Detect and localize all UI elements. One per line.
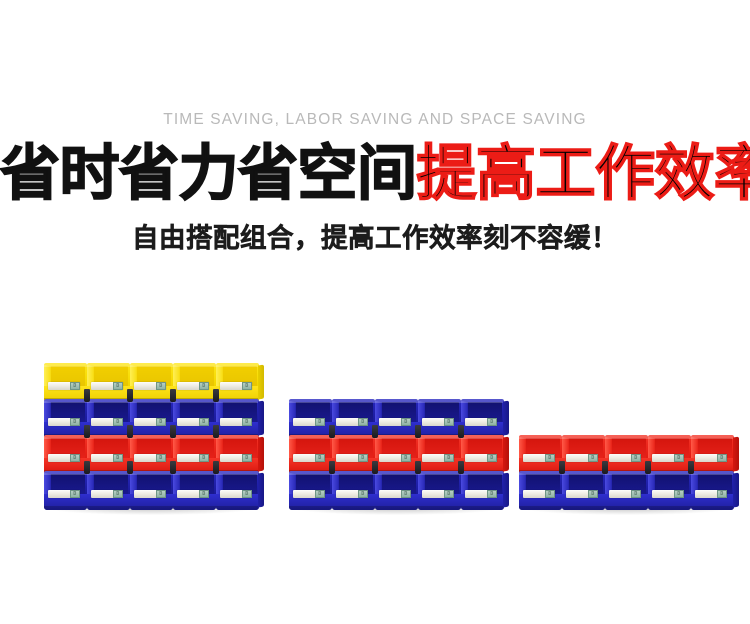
bin-label-strip: D [293, 454, 325, 462]
bin-label-strip: D [91, 382, 123, 390]
hero-subline-text: 自由搭配组合，提高工作效率刻不容缓！ [0, 226, 750, 253]
bin-body: D [648, 471, 691, 510]
bin-label-tag: D [631, 454, 641, 462]
bin-label-strip: D [336, 454, 368, 462]
bin-body: D [44, 399, 87, 438]
bin-label-tag: D [487, 490, 497, 498]
stack-connector-peg [329, 461, 335, 474]
bin-label-tag: D [315, 454, 325, 462]
storage-bin: D [44, 435, 87, 474]
storage-bin: D [375, 471, 418, 510]
bin-label-strip: D [609, 490, 641, 498]
bin-body: D [289, 399, 332, 438]
storage-bin: D [87, 471, 130, 510]
bin-body: D [375, 399, 418, 438]
bin-body: D [130, 363, 173, 402]
bin-rim [173, 471, 216, 475]
bin-label-strip: D [293, 418, 325, 426]
bin-body: D [691, 471, 734, 510]
bin-row: DDDDD [44, 435, 259, 474]
bin-row: DDDDD [289, 471, 504, 510]
bin-label-strip: D [91, 490, 123, 498]
bin-label-strip: D [134, 418, 166, 426]
bin-rim [691, 471, 734, 475]
bin-label-tag: D [487, 418, 497, 426]
bin-label-tag: D [113, 418, 123, 426]
bin-label-tag: D [70, 418, 80, 426]
hero-header: TIME SAVING, LABOR SAVING AND SPACE SAVI… [0, 0, 750, 252]
storage-bin: D [375, 435, 418, 474]
bin-label-strip: D [134, 454, 166, 462]
bin-rim [87, 435, 130, 439]
stack-connector-peg [415, 461, 421, 474]
bin-rim [216, 399, 259, 403]
bin-rim [87, 471, 130, 475]
bin-rim [173, 399, 216, 403]
bin-rim [375, 435, 418, 439]
bin-rim [44, 435, 87, 439]
bin-row: DDDDD [44, 471, 259, 510]
bin-rim [44, 399, 87, 403]
storage-bin: D [216, 363, 259, 402]
hero-headline: 省时省力省空间提高工作效率! [0, 144, 750, 204]
bin-label-strip: D [523, 454, 555, 462]
storage-bin: D [216, 471, 259, 510]
bin-label-strip: D [48, 418, 80, 426]
storage-bin: D [691, 435, 734, 474]
bin-rim [519, 435, 562, 439]
bin-row: DDDDD [289, 399, 504, 438]
storage-bin: D [87, 435, 130, 474]
storage-bin: D [332, 399, 375, 438]
bin-label-tag: D [401, 418, 411, 426]
storage-bin: D [562, 471, 605, 510]
bin-label-tag: D [113, 454, 123, 462]
bin-body: D [562, 471, 605, 510]
bin-rim [87, 363, 130, 367]
bin-label-tag: D [717, 490, 727, 498]
bin-label-strip: D [422, 418, 454, 426]
bin-label-tag: D [199, 454, 209, 462]
bin-label-tag: D [199, 418, 209, 426]
storage-bin: D [332, 435, 375, 474]
storage-bin: D [173, 471, 216, 510]
bin-body: D [87, 363, 130, 402]
bin-body: D [562, 435, 605, 474]
headline-primary-text: 省时省力省空间 [0, 139, 417, 209]
bin-stack: DDDDDDDDDD [519, 435, 734, 510]
bin-label-tag: D [242, 382, 252, 390]
storage-bin: D [130, 399, 173, 438]
bin-label-strip: D [609, 454, 641, 462]
bin-label-tag: D [199, 382, 209, 390]
bin-side-wall [258, 365, 264, 400]
bin-label-tag: D [70, 382, 80, 390]
stack-connector-peg [415, 425, 421, 438]
bin-stack: DDDDDDDDDDDDDDD [289, 399, 504, 510]
bin-rim [375, 471, 418, 475]
storage-bin: D [648, 471, 691, 510]
bin-label-tag: D [631, 490, 641, 498]
bin-body: D [173, 471, 216, 510]
bin-label-tag: D [545, 454, 555, 462]
bin-rim [289, 471, 332, 475]
stack-connector-peg [372, 425, 378, 438]
bin-body: D [87, 471, 130, 510]
stack-connector-peg [84, 461, 90, 474]
bin-body: D [375, 471, 418, 510]
bin-rim [44, 471, 87, 475]
storage-bin: D [87, 363, 130, 402]
bin-rim [173, 435, 216, 439]
stack-connector-peg [458, 425, 464, 438]
bin-body: D [332, 471, 375, 510]
bin-body: D [216, 435, 259, 474]
product-stack-two-layer: DDDDDDDDDD 二层 [519, 435, 734, 510]
bin-rim [605, 435, 648, 439]
bin-body: D [216, 399, 259, 438]
storage-bin: D [173, 363, 216, 402]
bin-label-tag: D [156, 382, 166, 390]
bin-label-strip: D [652, 454, 684, 462]
bin-label-tag: D [70, 490, 80, 498]
storage-bin: D [418, 399, 461, 438]
bin-label-tag: D [315, 418, 325, 426]
bin-label-tag: D [588, 454, 598, 462]
bin-label-strip: D [422, 490, 454, 498]
storage-bin: D [289, 399, 332, 438]
bin-body: D [461, 435, 504, 474]
stack-connector-peg [170, 389, 176, 402]
bin-label-strip: D [91, 418, 123, 426]
bin-side-wall [258, 473, 264, 508]
bin-side-wall [503, 437, 509, 472]
bin-label-strip: D [465, 490, 497, 498]
bin-label-tag: D [401, 454, 411, 462]
bin-rim [461, 399, 504, 403]
storage-bin: D [289, 471, 332, 510]
storage-bin: D [605, 471, 648, 510]
bin-label-tag: D [70, 454, 80, 462]
bin-body: D [289, 471, 332, 510]
bin-label-strip: D [134, 490, 166, 498]
bin-row: DDDDD [289, 435, 504, 474]
bin-side-wall [733, 473, 739, 508]
stack-connector-peg [127, 425, 133, 438]
bin-body: D [461, 399, 504, 438]
bin-label-tag: D [588, 490, 598, 498]
bin-body: D [418, 435, 461, 474]
bin-body: D [216, 363, 259, 402]
bin-label-strip: D [523, 490, 555, 498]
stack-connector-peg [213, 425, 219, 438]
stack-connector-peg [170, 461, 176, 474]
bin-label-strip: D [48, 382, 80, 390]
bin-rim [44, 363, 87, 367]
headline-accent-text: 提高工作效率! [417, 139, 750, 209]
bin-label-strip: D [220, 490, 252, 498]
bin-label-strip: D [91, 454, 123, 462]
bin-label-tag: D [545, 490, 555, 498]
bin-rim [87, 399, 130, 403]
bin-label-tag: D [358, 418, 368, 426]
bin-body: D [44, 435, 87, 474]
bin-rim [461, 435, 504, 439]
bin-body: D [130, 471, 173, 510]
bin-rim [418, 471, 461, 475]
bin-label-tag: D [242, 418, 252, 426]
bin-body: D [173, 363, 216, 402]
stack-connector-peg [329, 425, 335, 438]
bin-rim [375, 399, 418, 403]
stack-connector-peg [170, 425, 176, 438]
bin-body: D [605, 471, 648, 510]
bin-label-tag: D [401, 490, 411, 498]
bin-body: D [461, 471, 504, 510]
bin-rim [562, 471, 605, 475]
stack-connector-peg [213, 389, 219, 402]
bin-label-tag: D [113, 490, 123, 498]
bin-rim [130, 363, 173, 367]
bin-rim [130, 399, 173, 403]
bin-label-tag: D [444, 418, 454, 426]
bin-body: D [332, 399, 375, 438]
bin-rim [519, 471, 562, 475]
bin-rim [332, 471, 375, 475]
bin-label-tag: D [487, 454, 497, 462]
bin-side-wall [258, 437, 264, 472]
bin-rim [562, 435, 605, 439]
bin-label-strip: D [566, 454, 598, 462]
bin-rim [418, 435, 461, 439]
bin-label-tag: D [358, 454, 368, 462]
bin-stack: DDDDDDDDDDDDDDDDDDDD [44, 363, 259, 510]
bin-body: D [332, 435, 375, 474]
bin-rim [289, 399, 332, 403]
hero-eyebrow-text: TIME SAVING, LABOR SAVING AND SPACE SAVI… [0, 112, 750, 128]
storage-bin: D [461, 471, 504, 510]
bin-row: DDDDD [519, 471, 734, 510]
storage-bin: D [130, 435, 173, 474]
bin-rim [332, 435, 375, 439]
bin-label-tag: D [674, 454, 684, 462]
stack-connector-peg [645, 461, 651, 474]
bin-body: D [691, 435, 734, 474]
storage-bin: D [44, 363, 87, 402]
bin-body: D [519, 471, 562, 510]
bin-side-wall [258, 401, 264, 436]
bin-label-strip: D [134, 382, 166, 390]
bin-body: D [289, 435, 332, 474]
bin-label-strip: D [566, 490, 598, 498]
bin-label-strip: D [177, 490, 209, 498]
bin-rim [130, 471, 173, 475]
stack-connector-peg [127, 461, 133, 474]
bin-rim [418, 399, 461, 403]
bin-label-tag: D [156, 454, 166, 462]
bin-label-strip: D [336, 418, 368, 426]
stack-connector-peg [372, 461, 378, 474]
stack-connector-peg [602, 461, 608, 474]
product-stack-three-layer: DDDDDDDDDDDDDDD 三层 [289, 399, 504, 510]
bin-label-tag: D [242, 490, 252, 498]
storage-bin: D [289, 435, 332, 474]
bin-body: D [173, 435, 216, 474]
bin-body: D [605, 435, 648, 474]
bin-side-wall [733, 437, 739, 472]
bin-label-tag: D [156, 490, 166, 498]
bin-rim [332, 399, 375, 403]
bin-label-strip: D [695, 454, 727, 462]
bin-label-tag: D [199, 490, 209, 498]
bin-body: D [418, 471, 461, 510]
stack-connector-peg [84, 389, 90, 402]
bin-label-tag: D [315, 490, 325, 498]
bin-label-tag: D [156, 418, 166, 426]
storage-bin: D [44, 399, 87, 438]
bin-body: D [44, 471, 87, 510]
bin-rim [130, 435, 173, 439]
bin-label-strip: D [465, 418, 497, 426]
storage-bin: D [418, 435, 461, 474]
bin-label-tag: D [444, 454, 454, 462]
bin-label-strip: D [220, 454, 252, 462]
bin-label-strip: D [48, 490, 80, 498]
bin-rim [648, 435, 691, 439]
bin-side-wall [503, 473, 509, 508]
product-showcase: DDDDDDDDDDDDDDDDDDDD 四层 DDDDDDDDDDDDDDD … [0, 318, 750, 568]
storage-bin: D [691, 471, 734, 510]
bin-label-strip: D [422, 454, 454, 462]
bin-label-strip: D [220, 418, 252, 426]
storage-bin: D [519, 471, 562, 510]
bin-row: DDDDD [44, 363, 259, 402]
bin-label-tag: D [242, 454, 252, 462]
bin-body: D [87, 435, 130, 474]
storage-bin: D [519, 435, 562, 474]
bin-row: DDDDD [44, 399, 259, 438]
stack-connector-peg [688, 461, 694, 474]
bin-rim [605, 471, 648, 475]
stack-connector-peg [84, 425, 90, 438]
storage-bin: D [216, 399, 259, 438]
bin-label-strip: D [465, 454, 497, 462]
storage-bin: D [44, 471, 87, 510]
bin-body: D [173, 399, 216, 438]
storage-bin: D [605, 435, 648, 474]
bin-rim [216, 363, 259, 367]
storage-bin: D [461, 435, 504, 474]
storage-bin: D [173, 435, 216, 474]
bin-label-strip: D [48, 454, 80, 462]
bin-body: D [130, 399, 173, 438]
storage-bin: D [332, 471, 375, 510]
storage-bin: D [130, 471, 173, 510]
storage-bin: D [562, 435, 605, 474]
bin-label-tag: D [113, 382, 123, 390]
bin-rim [691, 435, 734, 439]
bin-rim [648, 471, 691, 475]
bin-body: D [87, 399, 130, 438]
stack-connector-peg [213, 461, 219, 474]
bin-label-tag: D [358, 490, 368, 498]
bin-label-tag: D [717, 454, 727, 462]
bin-label-strip: D [177, 454, 209, 462]
bin-body: D [130, 435, 173, 474]
storage-bin: D [216, 435, 259, 474]
bin-side-wall [503, 401, 509, 436]
bin-rim [216, 471, 259, 475]
bin-label-strip: D [379, 490, 411, 498]
bin-body: D [418, 399, 461, 438]
bin-rim [173, 363, 216, 367]
bin-label-tag: D [674, 490, 684, 498]
bin-label-strip: D [177, 418, 209, 426]
stack-connector-peg [458, 461, 464, 474]
bin-rim [289, 435, 332, 439]
stack-connector-peg [127, 389, 133, 402]
bin-label-strip: D [220, 382, 252, 390]
bin-label-strip: D [652, 490, 684, 498]
bin-label-strip: D [177, 382, 209, 390]
stack-connector-peg [559, 461, 565, 474]
storage-bin: D [130, 363, 173, 402]
bin-body: D [44, 363, 87, 402]
storage-bin: D [173, 399, 216, 438]
bin-label-strip: D [379, 418, 411, 426]
storage-bin: D [461, 399, 504, 438]
bin-rim [461, 471, 504, 475]
bin-label-strip: D [379, 454, 411, 462]
bin-body: D [519, 435, 562, 474]
bin-label-tag: D [444, 490, 454, 498]
product-stack-four-layer: DDDDDDDDDDDDDDDDDDDD 四层 [44, 363, 259, 510]
bin-label-strip: D [336, 490, 368, 498]
bin-body: D [216, 471, 259, 510]
storage-bin: D [418, 471, 461, 510]
storage-bin: D [87, 399, 130, 438]
bin-label-strip: D [695, 490, 727, 498]
bin-row: DDDDD [519, 435, 734, 474]
bin-rim [216, 435, 259, 439]
bin-label-strip: D [293, 490, 325, 498]
storage-bin: D [648, 435, 691, 474]
bin-body: D [648, 435, 691, 474]
bin-body: D [375, 435, 418, 474]
storage-bin: D [375, 399, 418, 438]
